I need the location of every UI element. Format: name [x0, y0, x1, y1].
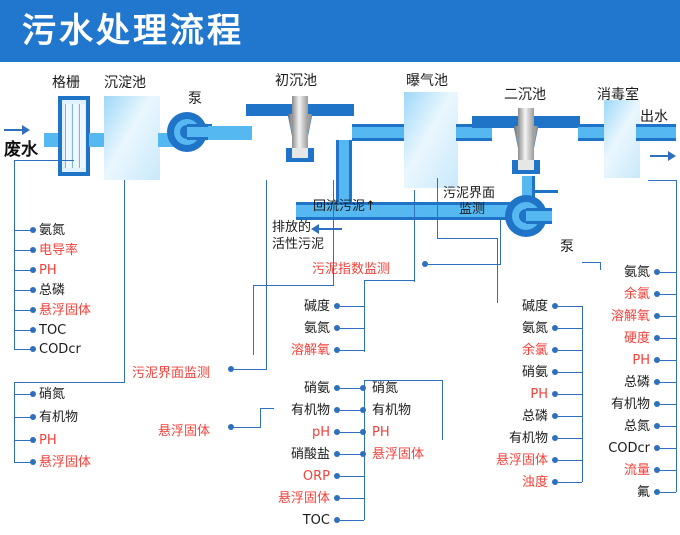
- sensor-label: 总氮: [605, 420, 650, 433]
- sensor-label: 溶解氧: [592, 310, 650, 323]
- sensor-dot[interactable]: [30, 327, 36, 333]
- sensor-label: 余氯: [605, 288, 650, 301]
- label-aeration-tank: 曝气池: [406, 74, 448, 89]
- pipe-edge: [296, 217, 534, 220]
- sensor-label: TOC: [286, 514, 330, 527]
- sensor-label: PH: [39, 264, 57, 277]
- sensor-label: ORP: [286, 470, 330, 483]
- sensor-label: 有机物: [39, 411, 78, 424]
- wire-sec-clarifier-collect: [582, 306, 583, 482]
- wire-aeration-upper-riser: [333, 180, 334, 286]
- sensor-label: PH: [372, 426, 390, 439]
- sensor-dot[interactable]: [360, 429, 366, 435]
- sensor-label: 氨氮: [503, 322, 548, 335]
- label-sedimentation-tank: 沉淀池: [104, 76, 146, 91]
- return-sludge-text: 回流污泥: [313, 199, 365, 214]
- pump-icon: [166, 108, 212, 156]
- sensor-label: 电导率: [39, 244, 78, 257]
- return-sludge-arrow-icon: ↑: [365, 199, 376, 214]
- sensor-label: 硝氮: [372, 382, 398, 395]
- sensor-label: PH: [510, 388, 548, 401]
- wire-branch: [558, 350, 582, 351]
- sensor-label: 硝氮: [39, 388, 65, 401]
- outlet-label: 出水: [640, 110, 668, 125]
- inlet-arrow-shaft: [4, 129, 24, 131]
- clarifier-icon: [470, 108, 582, 186]
- sensor-label: 有机物: [372, 404, 411, 417]
- waste-sludge-arrow-shaft: [318, 228, 342, 230]
- sensor-dot[interactable]: [30, 287, 36, 293]
- sensor-label: 悬浮固体: [39, 304, 91, 317]
- wire-aeration-upper-bus: [253, 285, 254, 355]
- sensor-label: PH: [612, 354, 650, 367]
- sludge-index-monitor-label: 污泥指数监测: [312, 258, 390, 277]
- sensor-label: 硝氨: [503, 366, 548, 379]
- waste-sludge-line1: 排放的: [272, 220, 311, 236]
- wire-effluent-collect: [676, 180, 677, 492]
- sensor-label: 悬浮固体: [258, 492, 330, 505]
- wire-sec-inlet-bus: [442, 380, 443, 440]
- wire-sludge-interface-secondary-h: [437, 238, 497, 239]
- sensor-label: 硝氨: [285, 382, 330, 395]
- wire-branch: [340, 306, 364, 307]
- aeration-tank: [404, 92, 458, 188]
- sensor-dot[interactable]: [30, 414, 36, 420]
- sensor-label: 碱度: [503, 300, 548, 313]
- sensor-label: 悬浮固体: [476, 454, 548, 467]
- pump-icon: [504, 192, 552, 240]
- sensor-label: 总磷: [39, 284, 65, 297]
- outlet-arrow-icon: [668, 151, 676, 161]
- label-primary-clarifier: 初沉池: [275, 74, 317, 89]
- sensor-label: CODcr: [592, 442, 650, 455]
- wire-aeration-upper-collect: [364, 280, 365, 352]
- label-pump-1: 泵: [188, 92, 202, 107]
- wire-aeration-upper-tap: [253, 285, 333, 286]
- wire-effluent-tap: [582, 262, 600, 263]
- sensor-label: 流量: [605, 464, 650, 477]
- sensor-label: 余氯: [503, 344, 548, 357]
- wire-branch: [660, 492, 676, 493]
- wire-sludge-index-riser: [500, 220, 501, 265]
- wire-aeration-upper-up: [414, 190, 415, 282]
- sensor-label: 悬浮固体: [39, 456, 91, 469]
- wire-sed-riser: [124, 180, 125, 383]
- label-secondary-clarifier: 二沉池: [504, 88, 546, 103]
- wire-suspended-solids: [234, 427, 260, 428]
- sensor-label: 氨氮: [605, 266, 650, 279]
- grille-bar: [72, 104, 78, 168]
- sensor-label: 浊度: [503, 476, 548, 489]
- sensor-label: 氨氮: [285, 322, 330, 335]
- label-grille: 格栅: [52, 76, 80, 91]
- pump-2: [504, 192, 552, 240]
- sensor-label: 有机物: [272, 404, 330, 417]
- wire-sed-tap: [14, 382, 124, 383]
- wire-branch: [558, 328, 582, 329]
- wire-sec-clarifier-riser: [497, 238, 498, 303]
- wire-branch: [340, 328, 364, 329]
- wire-branch: [558, 416, 582, 417]
- sensor-label: 总磷: [605, 376, 650, 389]
- sensor-dot[interactable]: [30, 227, 36, 233]
- pipe-edge: [636, 138, 676, 141]
- sensor-label: 有机物: [490, 432, 548, 445]
- diagram-canvas: 污水处理流程 格栅 沉淀池 泵 初沉池 曝气池 二沉池 消毒室 泵 废水: [0, 0, 680, 535]
- wire-branch: [558, 394, 582, 395]
- secondary-clarifier: [470, 108, 582, 186]
- pipe-edge: [352, 124, 408, 127]
- sensor-label: TOC: [39, 324, 66, 337]
- pipe-edge: [352, 138, 408, 141]
- sensor-dot[interactable]: [30, 307, 36, 313]
- sensor-dot[interactable]: [360, 385, 366, 391]
- label-pump-2: 泵: [560, 240, 574, 255]
- sensor-label: 有机物: [592, 398, 650, 411]
- wire-branch: [660, 338, 676, 339]
- wire-branch: [660, 404, 676, 405]
- sensor-label: pH: [292, 426, 330, 439]
- sludge-interface-monitor-line1: 污泥界面: [443, 186, 495, 202]
- wire-branch: [340, 476, 364, 477]
- wire-branch: [660, 360, 676, 361]
- grille-bar: [79, 104, 85, 168]
- sensor-label: 碱度: [285, 300, 330, 313]
- grille-unit: [58, 96, 90, 176]
- wire-influent-drop: [14, 160, 15, 222]
- wire-branch: [660, 272, 676, 273]
- sensor-dot[interactable]: [30, 391, 36, 397]
- inlet-label: 废水: [4, 135, 38, 160]
- sensor-label: 悬浮固体: [372, 448, 424, 461]
- wire-influent-tap: [14, 160, 74, 161]
- sensor-label: 溶解氧: [272, 344, 330, 357]
- sensor-dot[interactable]: [30, 437, 36, 443]
- wire-effluent-bus-top: [600, 262, 601, 270]
- sensor-label: CODcr: [39, 343, 81, 356]
- sensor-dot[interactable]: [30, 459, 36, 465]
- wire-aeration-upper-top: [364, 280, 414, 281]
- grille-bar: [65, 104, 71, 168]
- wire-branch: [558, 482, 582, 483]
- header-banner: 污水处理流程: [0, 0, 680, 62]
- sensor-label: PH: [39, 434, 57, 447]
- pump-1: [166, 108, 212, 156]
- sensor-dot[interactable]: [30, 346, 36, 352]
- wire-branch: [660, 448, 676, 449]
- return-sludge-label: 回流污泥↑: [313, 199, 376, 215]
- wire-branch: [558, 438, 582, 439]
- wire-branch: [340, 350, 364, 351]
- wire-branch: [660, 426, 676, 427]
- sensor-label: 氨氮: [39, 224, 65, 237]
- wire-branch: [558, 460, 582, 461]
- wire-sludge-interface-secondary: [437, 178, 438, 238]
- sensor-label: 氟: [618, 486, 650, 499]
- wire-branch: [660, 470, 676, 471]
- sludge-interface-monitor-red-label: 污泥界面监测: [132, 362, 210, 381]
- sensor-dot[interactable]: [360, 451, 366, 457]
- wire-suspended-solids-riser: [260, 408, 261, 428]
- wire-branch: [660, 316, 676, 317]
- sensor-label: 硝酸盐: [272, 448, 330, 461]
- wire-sludge-index: [428, 264, 500, 265]
- sensor-label: 硬度: [605, 332, 650, 345]
- wire-sludge-interface-red: [234, 369, 266, 370]
- wire-branch: [340, 520, 364, 521]
- wire-branch: [558, 372, 582, 373]
- sensor-dot[interactable]: [30, 247, 36, 253]
- sludge-interface-monitor-line2: 监测: [459, 202, 485, 218]
- wire-branch: [558, 306, 582, 307]
- wire-branch: [660, 294, 676, 295]
- sensor-label: 总磷: [503, 410, 548, 423]
- disinfection-room: [604, 100, 640, 178]
- page-title: 污水处理流程: [22, 10, 244, 52]
- waste-sludge-line2: 活性污泥: [272, 237, 324, 253]
- wire-branch: [660, 382, 676, 383]
- wire-sludge-interface-red-riser: [266, 180, 267, 370]
- wire-branch: [340, 498, 364, 499]
- sedimentation-tank: [104, 96, 160, 180]
- sensor-dot[interactable]: [360, 407, 366, 413]
- sensor-dot[interactable]: [30, 267, 36, 273]
- wire-effluent-top: [648, 180, 676, 181]
- waste-sludge-arrow-icon: [311, 224, 319, 234]
- suspended-solids-red-label: 悬浮固体: [158, 420, 210, 439]
